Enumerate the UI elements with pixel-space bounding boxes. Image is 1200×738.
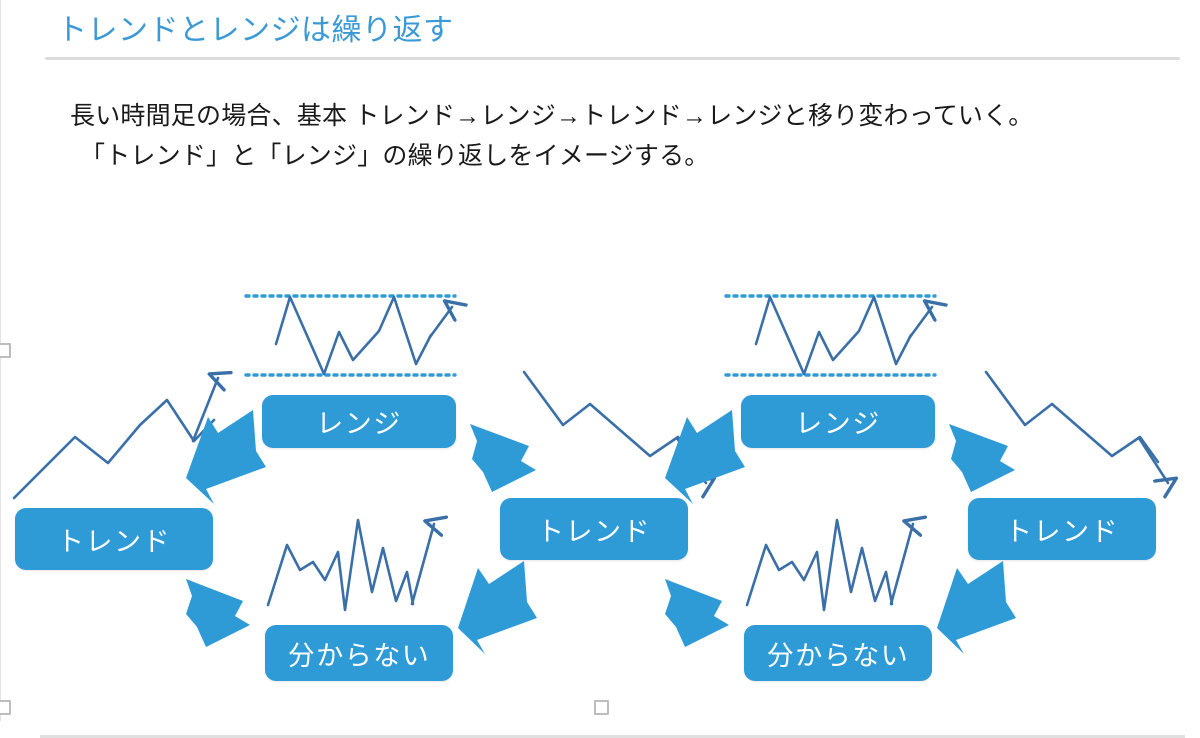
range-band-1 — [246, 296, 455, 375]
range-band-2 — [726, 296, 935, 375]
node-trend-3[interactable]: トレンド — [968, 498, 1156, 560]
arrow-trend1-to-range1 — [186, 410, 266, 504]
arrow-trend1-to-unknown1 — [186, 579, 250, 647]
sparkline-choppy-2 — [747, 520, 913, 610]
sparkline-downtrend-right — [986, 372, 1168, 483]
arrow-unknown1-to-trend2 — [458, 561, 537, 654]
selection-handle-bottom-left[interactable] — [0, 700, 11, 715]
arrow-unknown2-to-trend3 — [937, 561, 1016, 654]
node-range-2-label: レンジ — [795, 402, 881, 441]
node-trend-2-label: トレンド — [537, 510, 651, 549]
node-unknown-2-label: 分からない — [767, 634, 910, 673]
node-trend-2[interactable]: トレンド — [500, 498, 688, 560]
sparkline-uptrend-left — [14, 378, 218, 498]
node-unknown-2[interactable]: 分からない — [744, 625, 932, 681]
node-range-1-label: レンジ — [316, 402, 402, 441]
node-trend-1-label: トレンド — [57, 520, 171, 559]
node-trend-1[interactable]: トレンド — [15, 508, 213, 570]
node-trend-3-label: トレンド — [1005, 510, 1119, 549]
arrow-trend2-to-range2 — [665, 410, 745, 504]
node-range-1[interactable]: レンジ — [262, 395, 456, 448]
arrow-range2-to-trend3 — [949, 424, 1015, 492]
node-unknown-1[interactable]: 分からない — [265, 625, 453, 681]
sparkline-choppy-1 — [268, 520, 434, 610]
selection-handle-left[interactable] — [0, 343, 11, 358]
arrow-trend2-to-unknown2 — [665, 579, 729, 647]
slide-canvas: トレンドとレンジは繰り返す 長い時間足の場合、基本 トレンド→レンジ→トレンド→… — [0, 0, 1200, 721]
selection-handle-bottom-center[interactable] — [594, 700, 609, 715]
node-unknown-1-label: 分からない — [288, 634, 431, 673]
flow-diagram — [0, 0, 1200, 721]
node-range-2[interactable]: レンジ — [741, 395, 935, 448]
arrow-range1-to-trend2 — [470, 424, 536, 492]
